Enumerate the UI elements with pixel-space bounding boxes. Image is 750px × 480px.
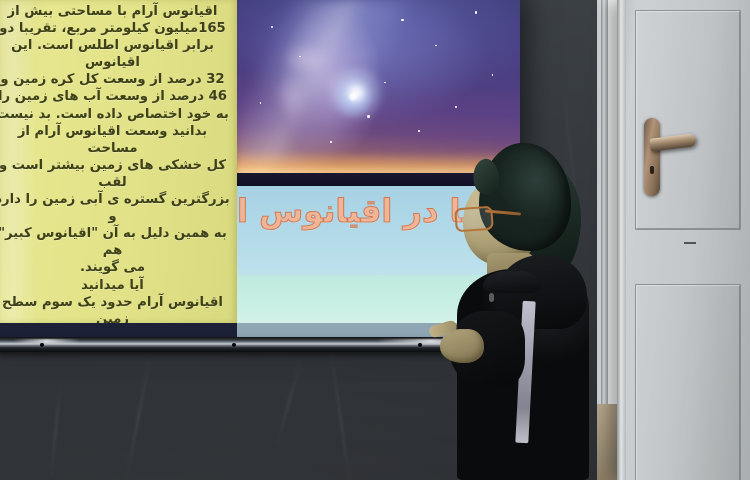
- galaxy-core-glow: [322, 67, 390, 119]
- zipper-pull: [489, 293, 494, 302]
- door-latch-mark: [684, 242, 696, 244]
- door-keyhole: [650, 166, 654, 174]
- projection-screen: فضا در اقیانوس ارام اقیانوس آرام با مساح…: [0, 0, 520, 337]
- slide-body-text: اقیانوس آرام با مساحتی بیش از 165میلیون …: [0, 3, 233, 323]
- door-lower-panel: [635, 284, 741, 480]
- door-edge-highlight: [617, 0, 626, 480]
- student-figure: [443, 143, 603, 480]
- slide-text-panel: اقیانوس آرام با مساحتی بیش از 165میلیون …: [0, 0, 237, 323]
- door-handle-plate[interactable]: [644, 118, 660, 196]
- hair: [479, 143, 571, 251]
- jacket-collar: [483, 271, 541, 293]
- white-panel-door[interactable]: [617, 0, 750, 480]
- classroom-photo-scene: فضا در اقیانوس ارام اقیانوس آرام با مساح…: [0, 0, 750, 480]
